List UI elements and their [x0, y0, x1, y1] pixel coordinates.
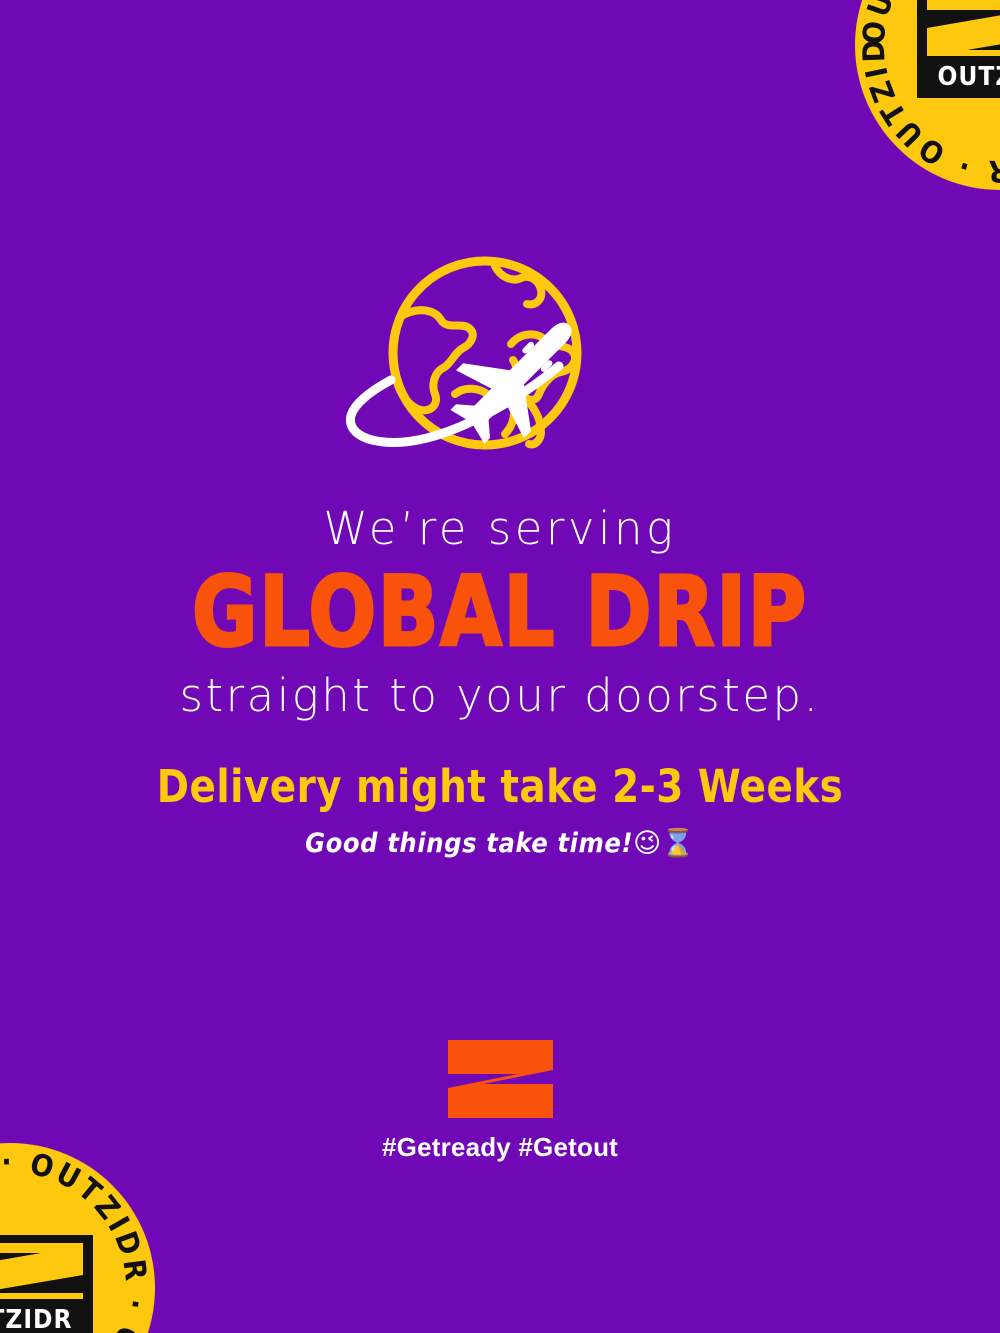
page-title: GLOBAL DRIP [40, 564, 960, 662]
seal-inner-logo: OUTZIDR [0, 1235, 93, 1333]
outzidr-seal-bottom-left: OUTZIDR · OUTZIDR · OUTZIDR · OUTZIDR · … [0, 1143, 155, 1333]
seal-wordmark: OUTZIDR [0, 1305, 72, 1333]
seal-wordmark-plate [927, 63, 1000, 90]
seal-wordmark: OUTZIDR [938, 62, 1000, 92]
outzidr-z-logo [448, 1040, 553, 1118]
z-mark-shape [448, 1040, 553, 1118]
headline-group: We’re serving GLOBAL DRIP straight to yo… [0, 505, 1000, 719]
poster-canvas: OUTZIDR · OUTZIDR · OUTZIDR · OUTZIDR · … [0, 0, 1000, 1333]
seal-inner-logo: OUTZIDR [917, 0, 1000, 98]
outzidr-seal-top-right: OUTZIDR · OUTZIDR · OUTZIDR · OUTZIDR · … [855, 0, 1000, 190]
seal-disc [0, 1143, 155, 1333]
footer-brand: #Getready #Getout [0, 1040, 1000, 1163]
seal-logo-plaque [917, 0, 1000, 98]
kicker-text: We’re serving [0, 505, 1000, 552]
delivery-tagline: Good things take time!😉⌛ [0, 827, 1000, 859]
hashtags-text: #Getready #Getout [0, 1132, 1000, 1163]
wink-hourglass-emoji: 😉⌛ [633, 828, 695, 859]
seal-ring-textpath: OUTZIDR · OUTZIDR · OUTZIDR · OUTZIDR · … [0, 1143, 153, 1333]
seal-ring-text: OUTZIDR · OUTZIDR · OUTZIDR · OUTZIDR · … [0, 1143, 153, 1333]
seal-logo-plaque [0, 1235, 93, 1333]
seal-ring-text: OUTZIDR · OUTZIDR · OUTZIDR · OUTZIDR · … [855, 0, 1000, 188]
hero-icon [0, 248, 1000, 473]
delivery-tagline-text: Good things take time! [305, 828, 633, 859]
seal-wordmark-plate [0, 1306, 83, 1333]
delivery-eta-text: Delivery might take 2-3 Weeks [20, 760, 980, 813]
seal-z-mark [0, 1243, 83, 1299]
seal-disc [855, 0, 1000, 190]
seal-z-mark [927, 0, 1000, 56]
delivery-notice: Delivery might take 2-3 Weeks Good thing… [0, 760, 1000, 859]
seal-ring-textpath: OUTZIDR · OUTZIDR · OUTZIDR · OUTZIDR · … [855, 0, 1000, 188]
subline-text: straight to your doorstep. [0, 672, 1000, 719]
